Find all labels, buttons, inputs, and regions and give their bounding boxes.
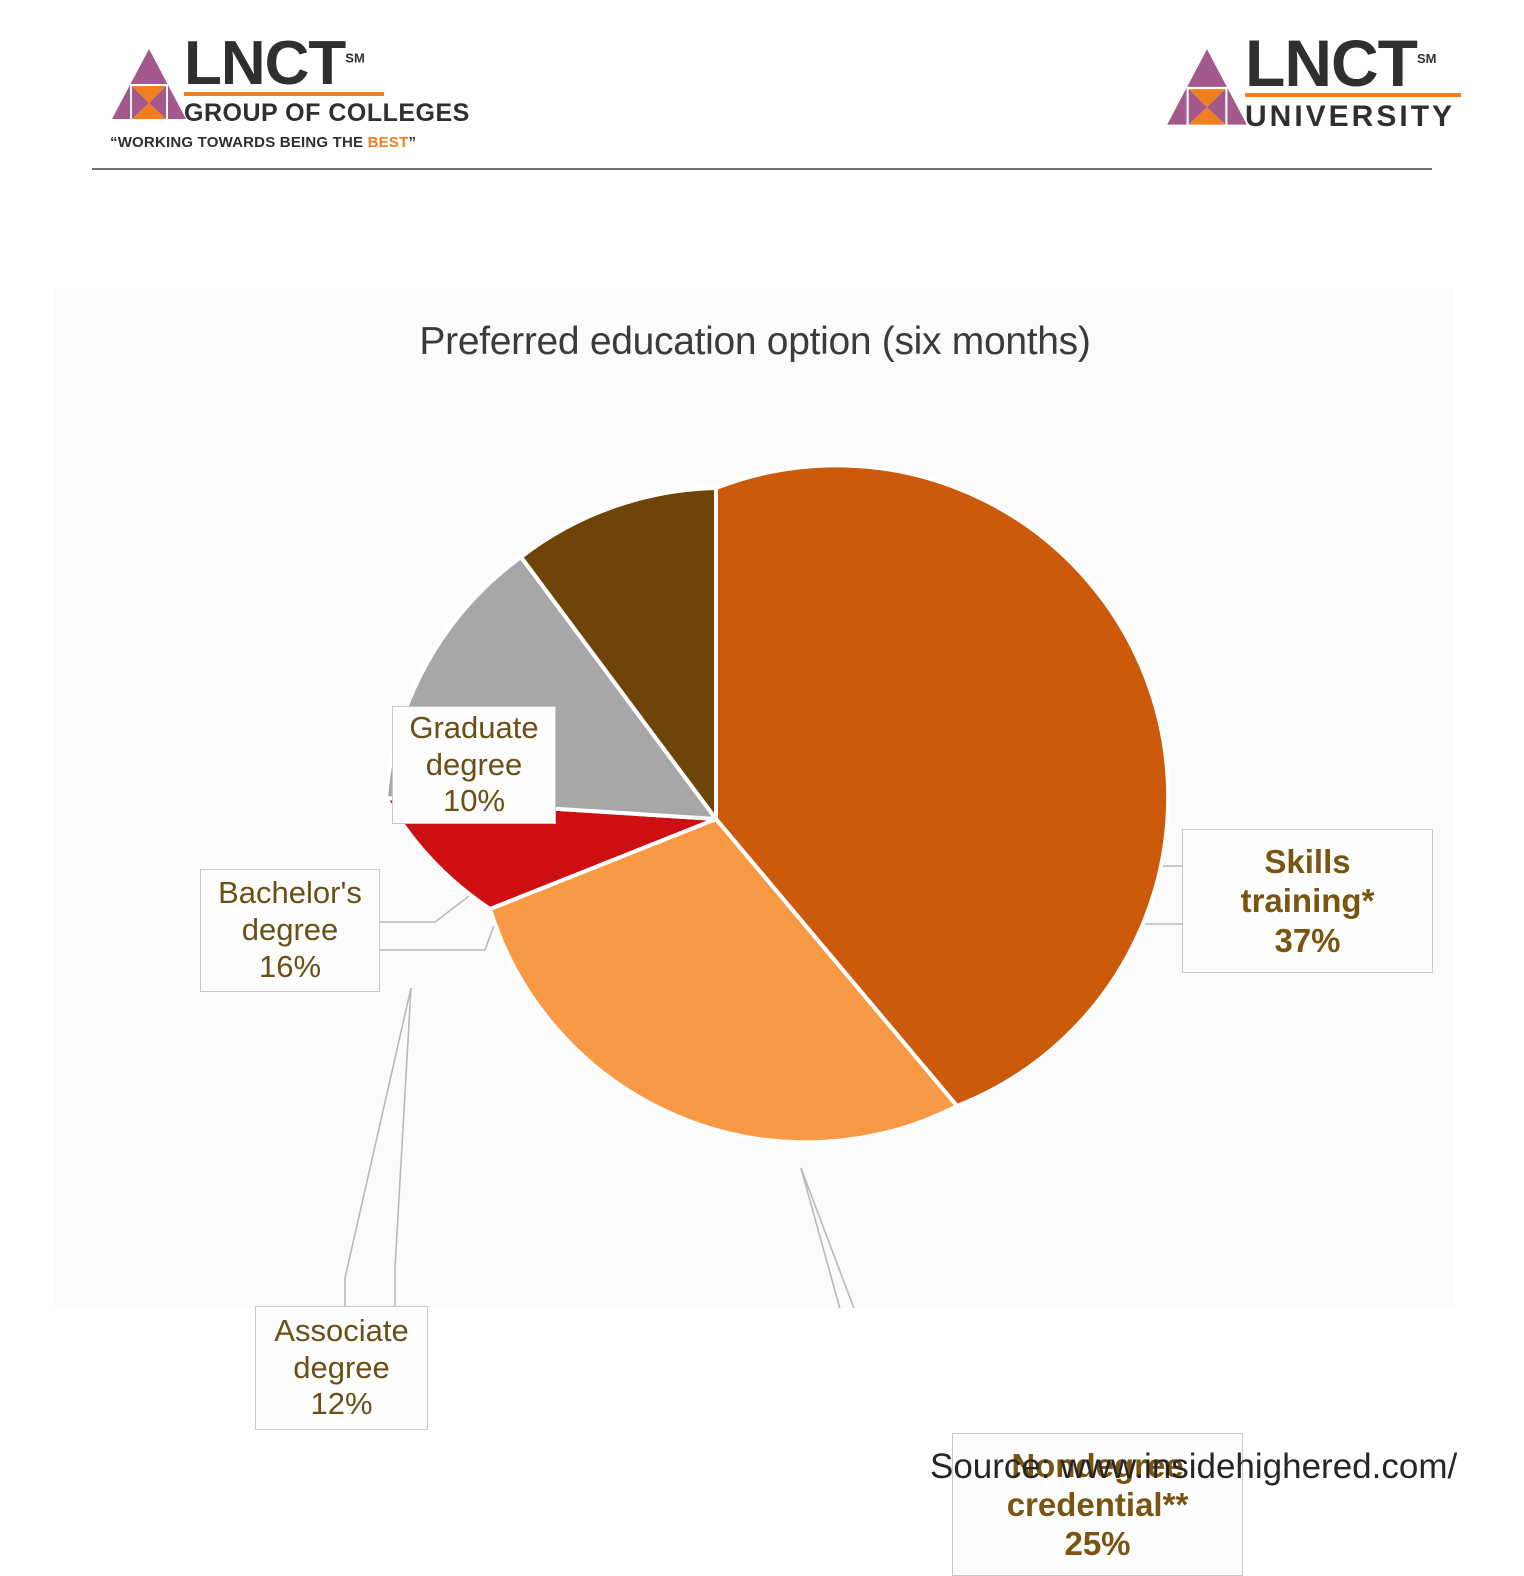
label-line-1: Associate <box>274 1313 408 1350</box>
lnct-wordmark: LNCTSM <box>184 29 365 98</box>
label-line-2: credential** <box>1007 1485 1189 1524</box>
label-line-2: degree <box>426 747 523 784</box>
label-line-2: degree <box>293 1350 390 1387</box>
label-line-2: degree <box>242 912 339 949</box>
tagline-prefix: “WORKING TOWARDS BEING THE <box>110 134 368 151</box>
lnct-university-logo: LNCTSM UNIVERSITY <box>1165 36 1461 134</box>
tagline-suffix: ” <box>408 134 416 151</box>
logo-tagline: “WORKING TOWARDS BEING THE BEST” <box>110 134 470 151</box>
label-line-1: Graduate <box>409 710 538 747</box>
pie-chart-graphic <box>55 288 1455 1308</box>
tagline-accent: BEST <box>368 134 409 151</box>
pie-label-graduate-degree: Graduate degree 10% <box>392 706 556 824</box>
logo-subtitle: GROUP OF COLLEGES <box>184 99 470 128</box>
label-line-1: Bachelor's <box>218 875 362 912</box>
label-value: 37% <box>1274 921 1340 960</box>
label-value: 12% <box>310 1386 372 1423</box>
trademark-sm: SM <box>345 50 365 65</box>
header-divider <box>92 168 1432 170</box>
label-value: 10% <box>443 783 505 820</box>
pie-label-bachelors-degree: Bachelor's degree 16% <box>200 869 380 992</box>
lnct-triangle-mark-icon <box>110 47 188 128</box>
pie-label-associate-degree: Associate degree 12% <box>255 1306 428 1430</box>
pie-chart-panel: Preferred education option (six months) <box>55 288 1455 1308</box>
label-line-2: training* <box>1241 881 1375 920</box>
pie-label-skills-training: Skills training* 37% <box>1182 829 1433 973</box>
trademark-sm: SM <box>1417 51 1437 66</box>
page-header: LNCTSM GROUP OF COLLEGES “WORKING TOWARD… <box>0 0 1524 176</box>
lnct-triangle-mark-icon <box>1165 47 1249 134</box>
lnct-wordmark: LNCTSM <box>1245 26 1436 100</box>
label-line-1: Skills <box>1264 842 1350 881</box>
source-attribution: Source: www.insidehighered.com/ <box>930 1447 1457 1487</box>
logo-subtitle: UNIVERSITY <box>1245 100 1461 134</box>
label-value: 16% <box>259 949 321 986</box>
lnct-group-of-colleges-logo: LNCTSM GROUP OF COLLEGES “WORKING TOWARD… <box>110 38 470 151</box>
label-value: 25% <box>1064 1524 1130 1563</box>
